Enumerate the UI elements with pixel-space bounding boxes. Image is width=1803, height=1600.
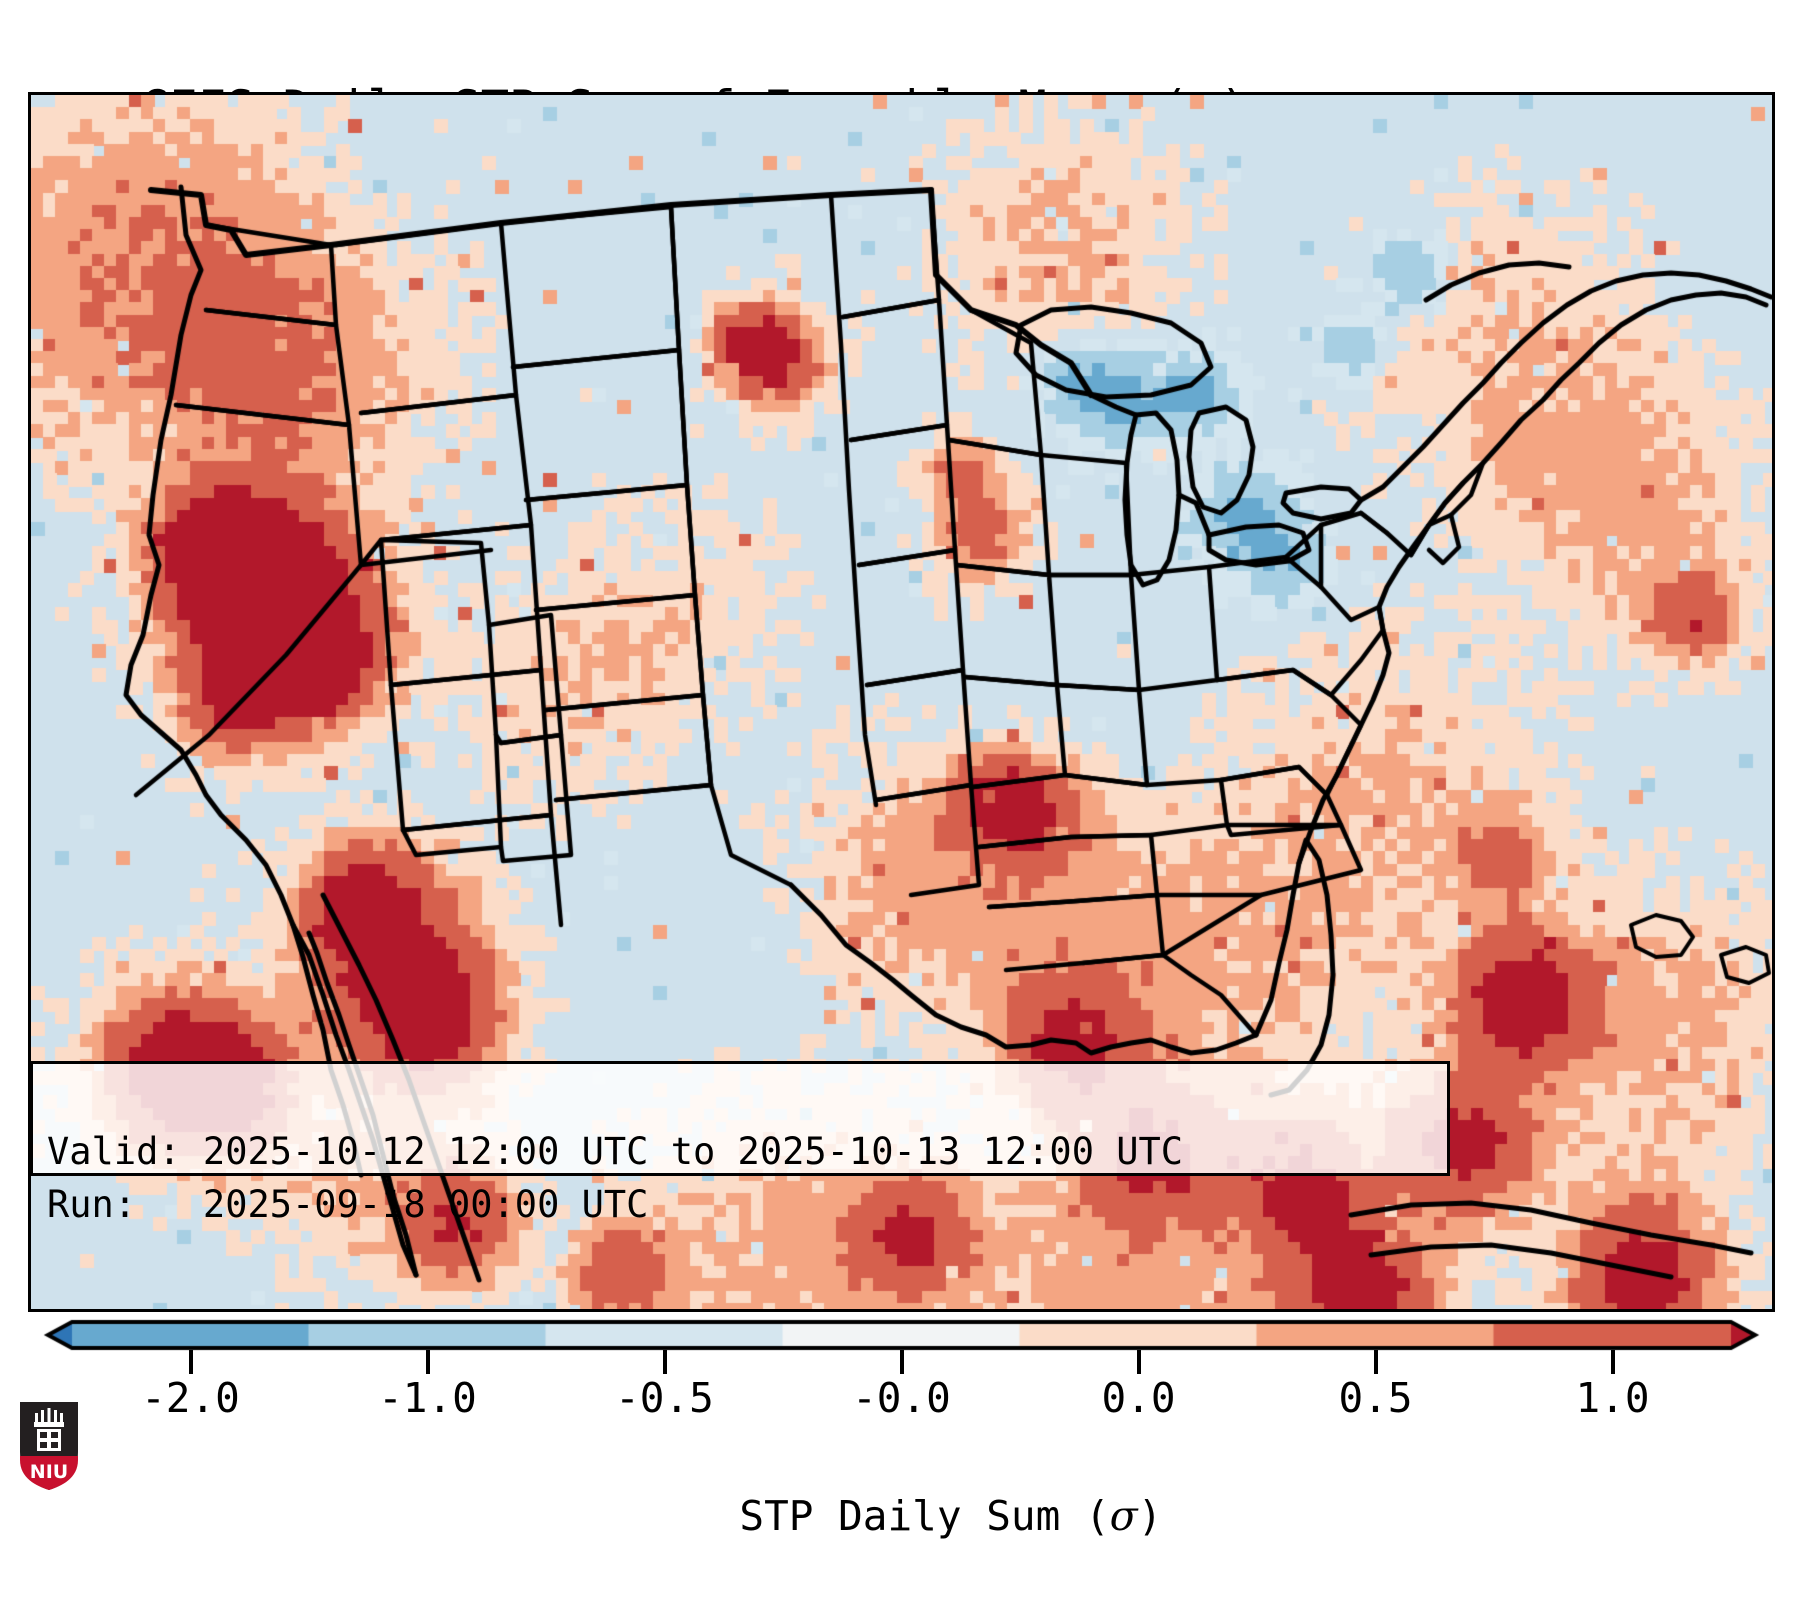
colorbar-tick-2: -0.5	[615, 1372, 714, 1424]
valid-run-info-box: Valid: 2025-10-12 12:00 UTC to 2025-10-1…	[30, 1061, 1450, 1176]
colorbar-tickmark-1	[426, 1350, 430, 1374]
colorbar-tickmark-4	[1137, 1350, 1141, 1374]
valid-line: Valid: 2025-10-12 12:00 UTC to 2025-10-1…	[47, 1125, 1433, 1178]
cbar-label-text: STP Daily Sum (	[739, 1492, 1109, 1540]
cbar-sigma-symbol: σ	[1110, 1492, 1138, 1540]
colorbar-tickmark-5	[1374, 1350, 1378, 1374]
colorbar-tick-5: 0.5	[1338, 1372, 1412, 1424]
niu-logo: NIU	[18, 1400, 80, 1492]
colorbar-tickmark-0	[189, 1350, 193, 1374]
colorbar-tick-6: 1.0	[1575, 1372, 1649, 1424]
cbar-label-close: )	[1138, 1492, 1163, 1540]
colorbar-axis-label: STP Daily Sum (σ)	[0, 1432, 1803, 1600]
page-title: GEFS Daily STP Sum of Ensemble Mean (σ)	[28, 16, 1788, 78]
niu-logo-text: NIU	[30, 1461, 68, 1483]
colorbar-tick-0: -2.0	[141, 1372, 240, 1424]
colorbar-tick-3: -0.0	[852, 1372, 951, 1424]
colorbar-tickmark-3	[900, 1350, 904, 1374]
colorbar-tickmark-2	[663, 1350, 667, 1374]
run-line: Run: 2025-09-18 00:00 UTC	[47, 1178, 1433, 1231]
colorbar-tickmark-6	[1611, 1350, 1615, 1374]
colorbar-tick-1: -1.0	[378, 1372, 477, 1424]
colorbar-tick-4: 0.0	[1101, 1372, 1175, 1424]
colorbar-tick-labels: -2.0-1.0-0.5-0.00.00.51.02.0	[0, 1372, 1803, 1424]
figure-root: GEFS Daily STP Sum of Ensemble Mean (σ) …	[0, 0, 1803, 1506]
